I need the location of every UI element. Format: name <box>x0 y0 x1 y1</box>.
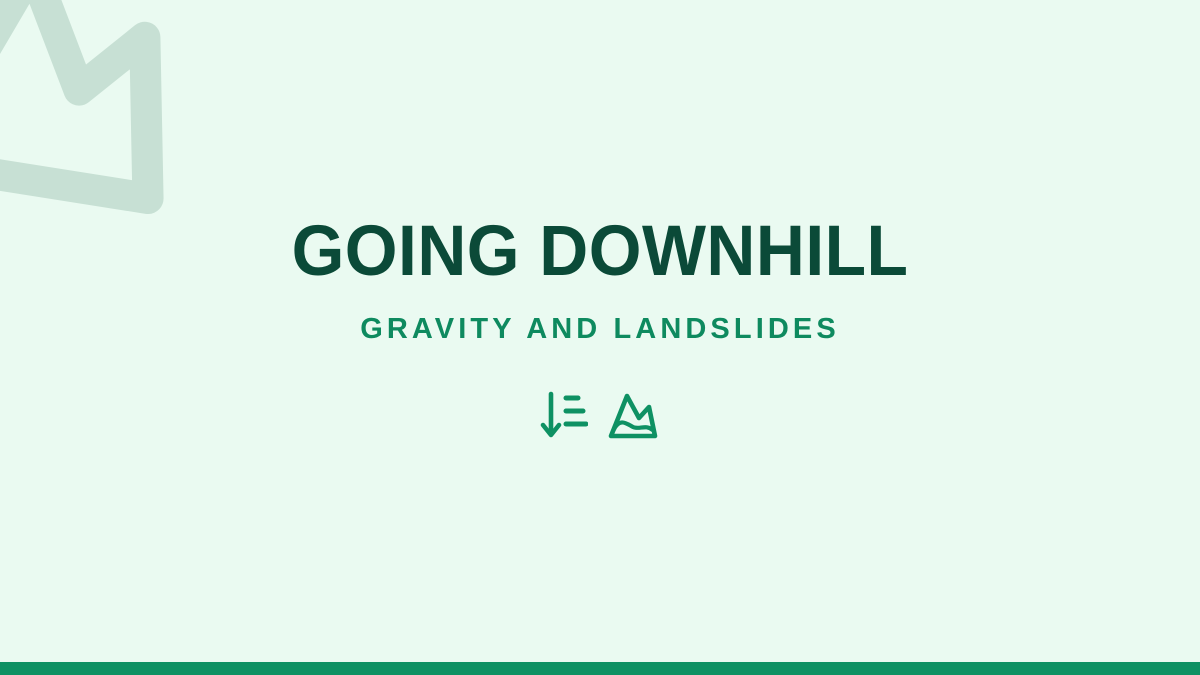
slide-content: GOING DOWNHILL GRAVITY AND LANDSLIDES <box>0 0 1200 662</box>
page-subtitle: GRAVITY AND LANDSLIDES <box>0 313 1200 346</box>
sort-descending-icon <box>540 390 588 442</box>
page-title: GOING DOWNHILL <box>27 216 1173 287</box>
mountain-icon <box>606 390 660 442</box>
bottom-accent-bar <box>0 662 1200 675</box>
title-slide: GOING DOWNHILL GRAVITY AND LANDSLIDES <box>0 0 1200 675</box>
icon-row <box>0 390 1200 442</box>
